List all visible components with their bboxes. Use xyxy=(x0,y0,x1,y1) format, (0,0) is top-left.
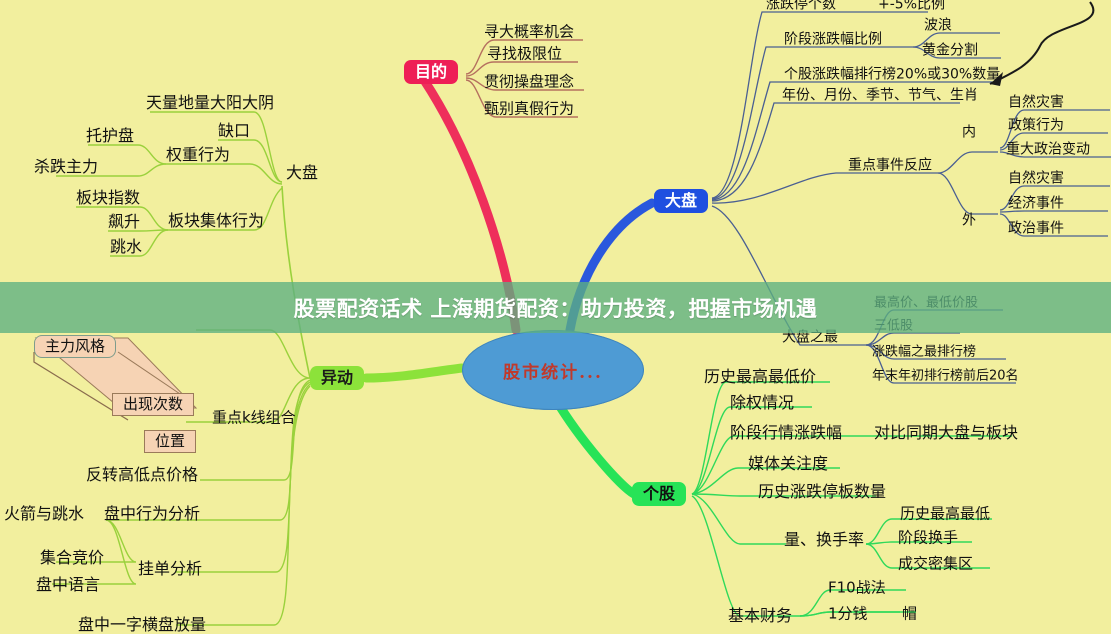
leaf-anomaly-7[interactable]: 盘中一字横盘放量 xyxy=(78,617,206,634)
leaf-purpose-3[interactable]: 甄别真假行为 xyxy=(484,101,574,117)
leaf-market-right-0[interactable]: 涨跌停个数 xyxy=(766,0,836,12)
center-node[interactable]: 股市统计... xyxy=(462,330,644,410)
leaf-market-right-4[interactable]: 黄金分割 xyxy=(922,43,978,58)
leaf-anomaly-4[interactable]: 挂单分析 xyxy=(138,561,202,578)
node-market-blue-label: 大盘 xyxy=(665,192,697,210)
leaf-market-left-3[interactable]: 托护盘 xyxy=(86,128,134,145)
leaf-event-internal-2[interactable]: 重大政治变动 xyxy=(1006,142,1090,157)
leaf-stock-4[interactable]: 媒体关注度 xyxy=(748,456,828,473)
leaf-purpose-1[interactable]: 寻找极限位 xyxy=(487,46,562,62)
node-occurrence-count[interactable]: 出现次数 xyxy=(112,393,194,416)
node-purpose-label: 目的 xyxy=(415,63,447,81)
leaf-event-internal-0[interactable]: 自然灾害 xyxy=(1008,95,1064,110)
leaf-market-right-6[interactable]: 年份、月份、季节、节气、生肖 xyxy=(782,88,978,103)
leaf-stock-3[interactable]: 对比同期大盘与板块 xyxy=(874,425,1018,442)
node-market-blue[interactable]: 大盘 xyxy=(654,189,708,213)
leaf-anomaly-5[interactable]: 集合竞价 xyxy=(40,550,104,567)
node-position[interactable]: 位置 xyxy=(144,430,196,453)
leaf-market-left-5[interactable]: 板块集体行为 xyxy=(168,213,264,230)
leaf-market-extremes-2[interactable]: 涨跌幅之最排行榜 xyxy=(872,345,976,359)
node-position-label: 位置 xyxy=(155,433,185,450)
label-fundamentals[interactable]: 基本财务 xyxy=(728,608,792,625)
node-anomaly-label: 异动 xyxy=(321,369,353,387)
node-stock-green-label: 个股 xyxy=(643,485,675,503)
mindmap-canvas: 股市统计... 目的 大盘 异动 个股 主力风格 出现次数 位置 寻大概率机会 … xyxy=(0,0,1111,627)
leaf-market-left-4[interactable]: 杀跌主力 xyxy=(34,159,98,176)
leaf-market-left-0[interactable]: 天量地量大阳大阴 xyxy=(146,95,274,112)
leaf-market-right-3[interactable]: 波浪 xyxy=(924,18,952,33)
leaf-market-right-2[interactable]: 阶段涨跌幅比例 xyxy=(784,32,882,47)
label-turnover[interactable]: 量、换手率 xyxy=(784,532,864,549)
leaf-market-extremes-3[interactable]: 年末年初排行榜前后20名 xyxy=(872,369,1019,383)
node-purpose[interactable]: 目的 xyxy=(404,60,458,84)
leaf-turnover-2[interactable]: 成交密集区 xyxy=(898,556,973,572)
leaf-turnover-0[interactable]: 历史最高最低 xyxy=(900,506,990,522)
leaf-market-left-6[interactable]: 板块指数 xyxy=(76,190,140,207)
leaf-stock-5[interactable]: 历史涨跌停板数量 xyxy=(758,484,886,501)
leaf-fundamentals-1[interactable]: 1分钱 xyxy=(828,606,868,622)
leaf-anomaly-0[interactable]: 重点k线组合 xyxy=(212,410,296,426)
leaf-market-left-1[interactable]: 缺口 xyxy=(218,123,250,140)
node-main-force-style[interactable]: 主力风格 xyxy=(34,335,116,358)
center-node-label: 股市统计... xyxy=(503,358,603,383)
leaf-fundamentals-0[interactable]: F10战法 xyxy=(828,580,886,596)
node-stock-green[interactable]: 个股 xyxy=(632,482,686,506)
leaf-anomaly-6[interactable]: 盘中语言 xyxy=(36,577,100,594)
label-market-left-root[interactable]: 大盘 xyxy=(286,165,318,182)
label-event-external[interactable]: 外 xyxy=(962,213,976,228)
node-occurrence-count-label: 出现次数 xyxy=(123,396,183,413)
promo-banner-text: 股票配资话术 上海期货配资：助力投资，把握市场机遇 xyxy=(294,293,818,323)
promo-banner: 股票配资话术 上海期货配资：助力投资，把握市场机遇 xyxy=(0,282,1111,333)
leaf-market-left-7[interactable]: 飙升 xyxy=(108,214,140,231)
leaf-market-right-5[interactable]: 个股涨跌幅排行榜20%或30%数量 xyxy=(784,67,1000,82)
leaf-fundamentals-2[interactable]: 帽 xyxy=(902,606,917,622)
leaf-purpose-2[interactable]: 贯彻操盘理念 xyxy=(484,74,574,90)
node-main-force-style-label: 主力风格 xyxy=(45,338,105,355)
leaf-market-right-7[interactable]: 重点事件反应 xyxy=(848,158,932,173)
leaf-anomaly-2[interactable]: 盘中行为分析 xyxy=(104,506,200,523)
leaf-event-internal-1[interactable]: 政策行为 xyxy=(1008,118,1064,133)
leaf-market-left-8[interactable]: 跳水 xyxy=(110,239,142,256)
leaf-anomaly-1[interactable]: 反转高低点价格 xyxy=(86,467,198,484)
leaf-stock-1[interactable]: 除权情况 xyxy=(730,395,794,412)
node-anomaly[interactable]: 异动 xyxy=(310,366,364,390)
leaf-event-external-1[interactable]: 经济事件 xyxy=(1008,196,1064,211)
leaf-anomaly-3[interactable]: 火箭与跳水 xyxy=(4,506,84,523)
leaf-purpose-0[interactable]: 寻大概率机会 xyxy=(484,24,574,40)
leaf-event-external-0[interactable]: 自然灾害 xyxy=(1008,171,1064,186)
leaf-stock-0[interactable]: 历史最高最低价 xyxy=(704,369,816,386)
leaf-stock-2[interactable]: 阶段行情涨跌幅 xyxy=(730,425,842,442)
label-event-internal[interactable]: 内 xyxy=(962,125,976,140)
leaf-turnover-1[interactable]: 阶段换手 xyxy=(898,530,958,546)
leaf-market-left-2[interactable]: 权重行为 xyxy=(166,147,230,164)
leaf-market-right-1[interactable]: +-5%比例 xyxy=(878,0,945,12)
leaf-event-external-2[interactable]: 政治事件 xyxy=(1008,221,1064,236)
